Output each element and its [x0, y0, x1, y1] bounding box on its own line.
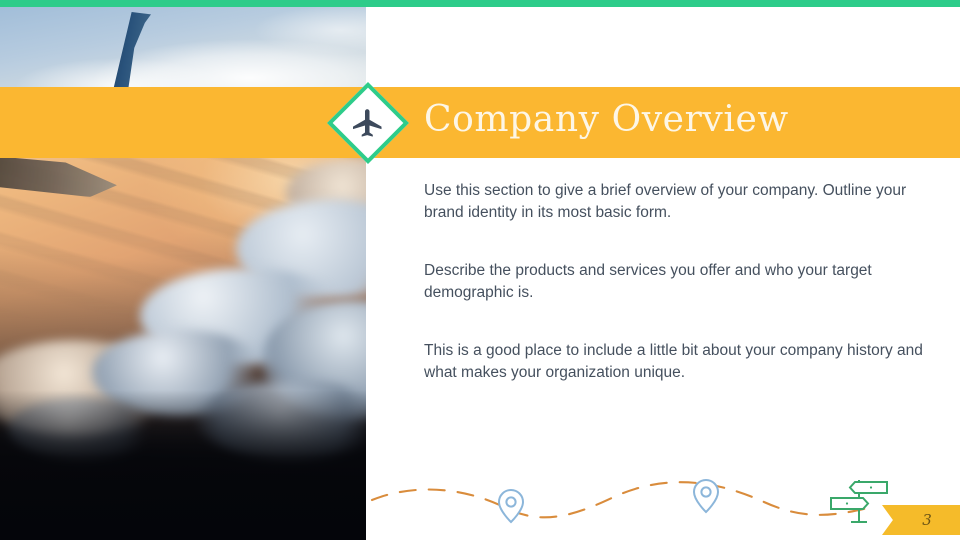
paragraph-3: This is a good place to include a little…	[424, 340, 924, 384]
paragraph-2: Describe the products and services you o…	[424, 260, 924, 304]
photo-dark-gradient	[0, 390, 366, 540]
journey-decoration	[366, 470, 960, 540]
sky-upper-image	[0, 0, 366, 92]
top-accent-bar	[0, 0, 960, 7]
diamond-badge	[330, 85, 406, 161]
page-number: 3	[894, 505, 960, 535]
dashed-route-line	[372, 482, 876, 517]
map-pin-icon	[499, 490, 523, 522]
photo-panel	[0, 0, 366, 540]
slide-company-overview: Company Overview Use this section to giv…	[0, 0, 960, 540]
page-title: Company Overview	[424, 99, 789, 140]
airplane-winglet	[107, 12, 151, 90]
airplane-icon	[330, 85, 406, 161]
paragraph-1: Use this section to give a brief overvie…	[424, 180, 924, 224]
body-copy: Use this section to give a brief overvie…	[424, 180, 924, 384]
signpost-icon	[831, 480, 887, 522]
map-pin-icon	[694, 480, 718, 512]
